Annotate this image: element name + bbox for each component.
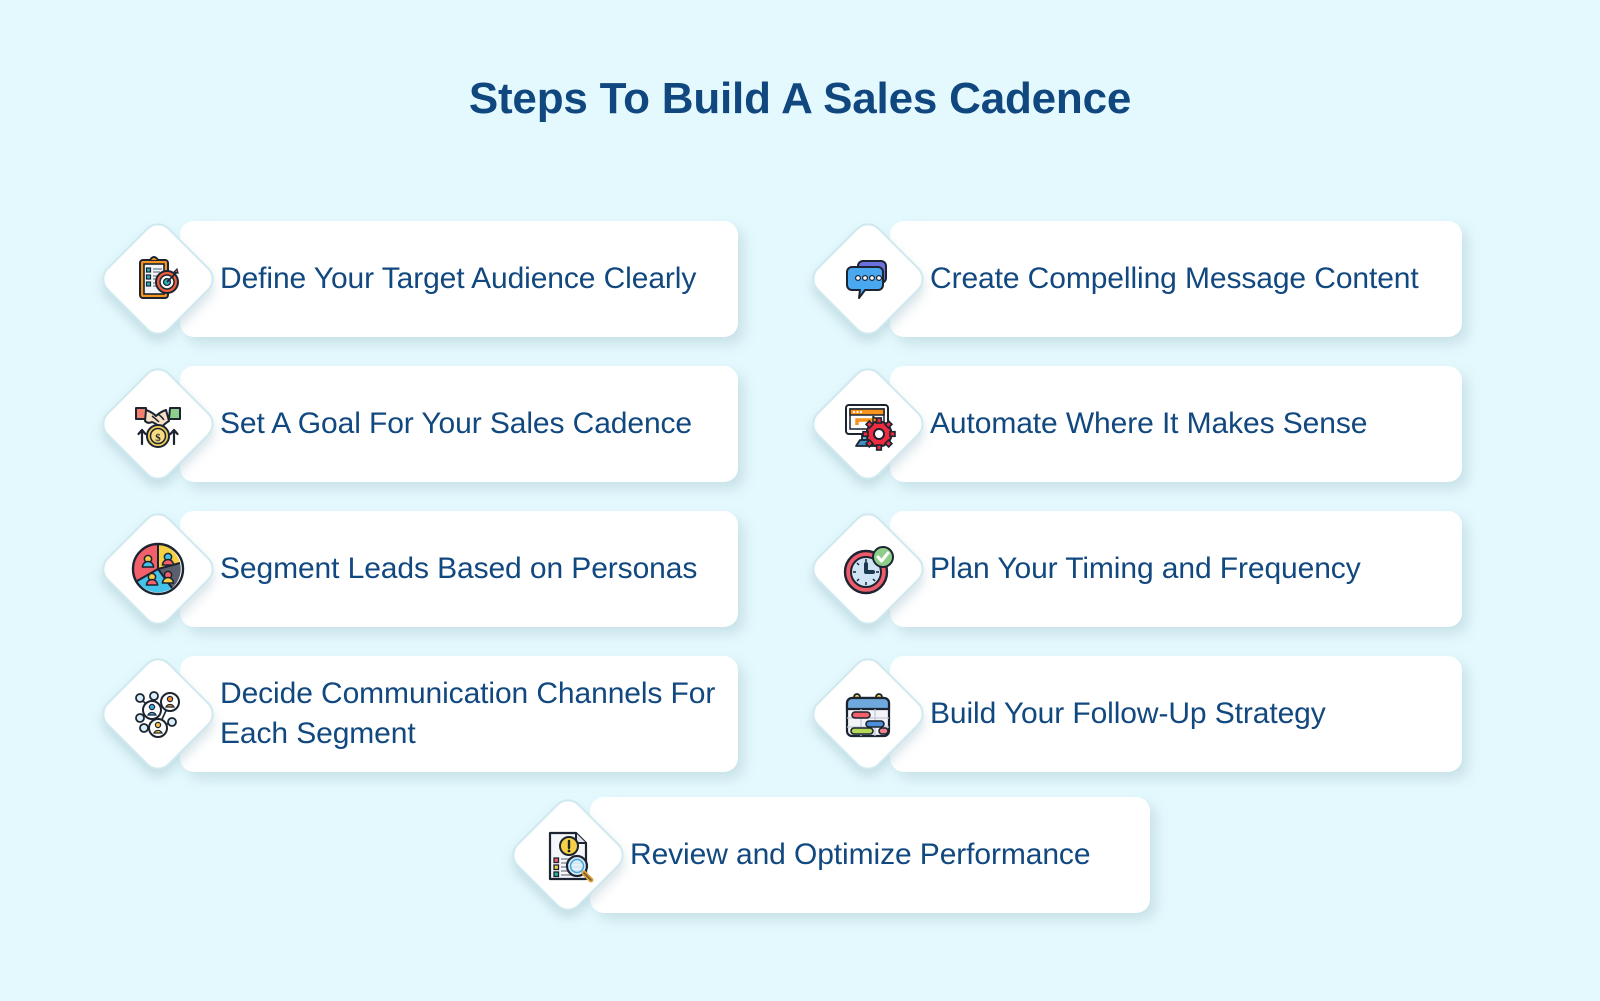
step-label: Automate Where It Makes Sense: [930, 404, 1367, 444]
steps-grid: Define Your Target Audience Clearly Crea…: [96, 206, 1516, 786]
step-label: Segment Leads Based on Personas: [220, 549, 697, 589]
step-item-decide-channels[interactable]: Decide Communication Channels For Each S…: [96, 641, 806, 786]
step-item-follow-up-strategy[interactable]: Build Your Follow-Up Strategy: [806, 641, 1516, 786]
step-item-create-message-content[interactable]: Create Compelling Message Content: [806, 206, 1516, 351]
step-card[interactable]: Automate Where It Makes Sense: [890, 366, 1462, 482]
step-label: Create Compelling Message Content: [930, 259, 1419, 299]
step-label: Plan Your Timing and Frequency: [930, 549, 1361, 589]
step-card[interactable]: Review and Optimize Performance: [590, 797, 1150, 913]
step-item-define-target-audience[interactable]: Define Your Target Audience Clearly: [96, 206, 806, 351]
step-card[interactable]: Plan Your Timing and Frequency: [890, 511, 1462, 627]
step-label: Build Your Follow-Up Strategy: [930, 694, 1326, 734]
step-card[interactable]: Build Your Follow-Up Strategy: [890, 656, 1462, 772]
page-title: Steps To Build A Sales Cadence: [0, 74, 1600, 124]
step-item-automate[interactable]: Automate Where It Makes Sense: [806, 351, 1516, 496]
step-item-segment-leads[interactable]: Segment Leads Based on Personas: [96, 496, 806, 641]
step-item-plan-timing[interactable]: Plan Your Timing and Frequency: [806, 496, 1516, 641]
step-label: Decide Communication Channels For Each S…: [220, 674, 720, 754]
svg-text:$: $: [155, 432, 161, 444]
step-item-review-optimize[interactable]: Review and Optimize Performance: [506, 782, 1206, 927]
step-card[interactable]: Define Your Target Audience Clearly: [180, 221, 738, 337]
step-card[interactable]: Set A Goal For Your Sales Cadence: [180, 366, 738, 482]
step-label: Define Your Target Audience Clearly: [220, 259, 696, 299]
step-item-set-a-goal[interactable]: $ Set A Goal For Your Sales Cadence: [96, 351, 806, 496]
step-card[interactable]: Create Compelling Message Content: [890, 221, 1462, 337]
step-card[interactable]: Decide Communication Channels For Each S…: [180, 656, 738, 772]
step-card[interactable]: Segment Leads Based on Personas: [180, 511, 738, 627]
step-label: Review and Optimize Performance: [630, 835, 1090, 875]
step-label: Set A Goal For Your Sales Cadence: [220, 404, 692, 444]
